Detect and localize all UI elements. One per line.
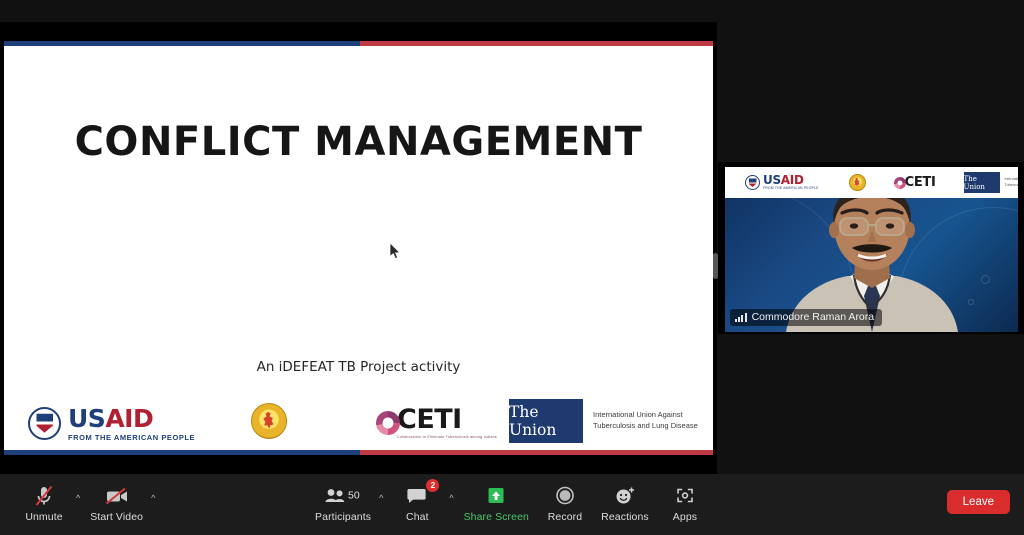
slide-subtitle: An iDEFEAT TB Project activity bbox=[4, 359, 713, 375]
partner-seal-logo bbox=[251, 403, 287, 439]
shared-screen-region[interactable]: CONFLICT MANAGEMENT An iDEFEAT TB Projec… bbox=[0, 22, 717, 474]
chat-bubble-icon: 2 bbox=[406, 484, 428, 508]
apps-brackets-icon bbox=[675, 484, 695, 508]
svg-text:50: 50 bbox=[348, 490, 360, 502]
usaid-word-secondary: AID bbox=[781, 173, 804, 187]
usaid-tagline: FROM THE AMERICAN PEOPLE bbox=[763, 187, 819, 190]
the-union-tagline: International Union Against Tuberculosis… bbox=[593, 410, 713, 432]
presentation-slide: CONFLICT MANAGEMENT An iDEFEAT TB Projec… bbox=[4, 41, 713, 455]
video-background-logo-banner: USAID FROM THE AMERICAN PEOPLE CETI The … bbox=[725, 167, 1018, 198]
start-video-button[interactable]: Start Video bbox=[84, 482, 149, 523]
audio-options-chevron-icon[interactable]: ^ bbox=[72, 491, 84, 505]
participants-label: Participants bbox=[315, 512, 371, 523]
ceti-wordmark: CETI bbox=[397, 406, 497, 433]
smiley-plus-icon bbox=[614, 484, 636, 508]
slide-top-stripe bbox=[4, 41, 713, 46]
share-screen-button[interactable]: Share Screen bbox=[458, 482, 535, 523]
chat-options-chevron-icon[interactable]: ^ bbox=[445, 491, 457, 505]
the-union-wordmark: The Union bbox=[964, 172, 1000, 193]
video-partner-seal-logo bbox=[849, 174, 866, 191]
video-ceti-logo: CETI bbox=[894, 175, 936, 190]
video-usaid-logo: USAID FROM THE AMERICAN PEOPLE bbox=[745, 174, 819, 190]
ceti-tagline: Collaboration to Eliminate Tuberculosis … bbox=[397, 435, 497, 439]
unmute-label: Unmute bbox=[25, 512, 62, 523]
zoom-meeting-window: CONFLICT MANAGEMENT An iDEFEAT TB Projec… bbox=[0, 0, 1024, 535]
usaid-logo: USAID FROM THE AMERICAN PEOPLE bbox=[28, 406, 195, 442]
participants-button[interactable]: 50 Participants bbox=[309, 482, 377, 523]
camera-muted-icon bbox=[105, 484, 129, 508]
ceti-mark-icon bbox=[894, 177, 906, 189]
mouse-cursor bbox=[390, 243, 402, 260]
slide-logo-row: USAID FROM THE AMERICAN PEOPLE CETI Coll… bbox=[4, 387, 713, 445]
the-union-logo: The Union International Union Against Tu… bbox=[509, 399, 713, 443]
usaid-word-secondary: AID bbox=[105, 404, 153, 433]
video-options-chevron-icon[interactable]: ^ bbox=[147, 491, 159, 505]
chat-unread-badge: 2 bbox=[426, 479, 439, 492]
leave-button[interactable]: Leave bbox=[947, 490, 1010, 514]
participant-video-tile[interactable]: USAID FROM THE AMERICAN PEOPLE CETI The … bbox=[718, 162, 1024, 334]
participant-name-label: Commodore Raman Arora bbox=[730, 309, 882, 326]
unmute-button[interactable]: Unmute bbox=[14, 482, 74, 523]
apps-button[interactable]: Apps bbox=[655, 482, 715, 523]
participant-name-text: Commodore Raman Arora bbox=[752, 311, 875, 323]
share-screen-label: Share Screen bbox=[464, 512, 529, 523]
signal-strength-icon bbox=[735, 313, 747, 322]
stripe-red-segment bbox=[360, 41, 713, 46]
usaid-word-primary: US bbox=[763, 173, 781, 187]
background-dot-decoration bbox=[981, 275, 990, 284]
partner-seal-icon bbox=[251, 403, 287, 439]
the-union-wordmark: The Union bbox=[509, 399, 583, 443]
the-union-tagline: International Union Against Tuberculosis… bbox=[1005, 177, 1018, 187]
reactions-button[interactable]: Reactions bbox=[595, 482, 655, 523]
start-video-label: Start Video bbox=[90, 512, 143, 523]
ceti-mark-icon bbox=[376, 411, 400, 435]
toolbar-center-group: 50 Participants ^ 2 Chat ^ bbox=[309, 482, 715, 523]
microphone-muted-icon bbox=[34, 484, 54, 508]
slide-bottom-stripe bbox=[4, 450, 713, 455]
meeting-toolbar: Unmute ^ Start Video ^ bbox=[0, 474, 1024, 535]
stripe-blue-segment bbox=[4, 450, 360, 455]
stripe-blue-segment bbox=[4, 41, 360, 46]
record-label: Record bbox=[548, 512, 582, 523]
chat-label: Chat bbox=[406, 512, 429, 523]
video-feed: USAID FROM THE AMERICAN PEOPLE CETI The … bbox=[725, 167, 1018, 332]
record-circle-icon bbox=[555, 484, 575, 508]
video-the-union-logo: The Union International Union Against Tu… bbox=[964, 172, 1018, 193]
share-screen-arrow-icon bbox=[485, 484, 507, 508]
partner-seal-icon bbox=[849, 174, 866, 191]
apps-label: Apps bbox=[673, 512, 697, 523]
record-button[interactable]: Record bbox=[535, 482, 595, 523]
usaid-tagline: FROM THE AMERICAN PEOPLE bbox=[68, 434, 195, 442]
participants-options-chevron-icon[interactable]: ^ bbox=[375, 491, 387, 505]
toolbar-left-group: Unmute ^ Start Video ^ bbox=[14, 482, 159, 523]
ceti-logo: CETI Collaboration to Eliminate Tubercul… bbox=[376, 406, 497, 439]
toolbar-right-group: Leave bbox=[947, 490, 1010, 514]
ceti-wordmark: CETI bbox=[905, 175, 936, 190]
slide-title: CONFLICT MANAGEMENT bbox=[4, 119, 713, 165]
chat-button[interactable]: 2 Chat bbox=[387, 482, 447, 523]
reactions-label: Reactions bbox=[601, 512, 649, 523]
usaid-seal-icon bbox=[28, 407, 61, 440]
usaid-seal-icon bbox=[745, 175, 760, 190]
people-icon: 50 bbox=[324, 484, 362, 508]
stripe-red-segment bbox=[360, 450, 713, 455]
usaid-word-primary: US bbox=[68, 404, 105, 433]
